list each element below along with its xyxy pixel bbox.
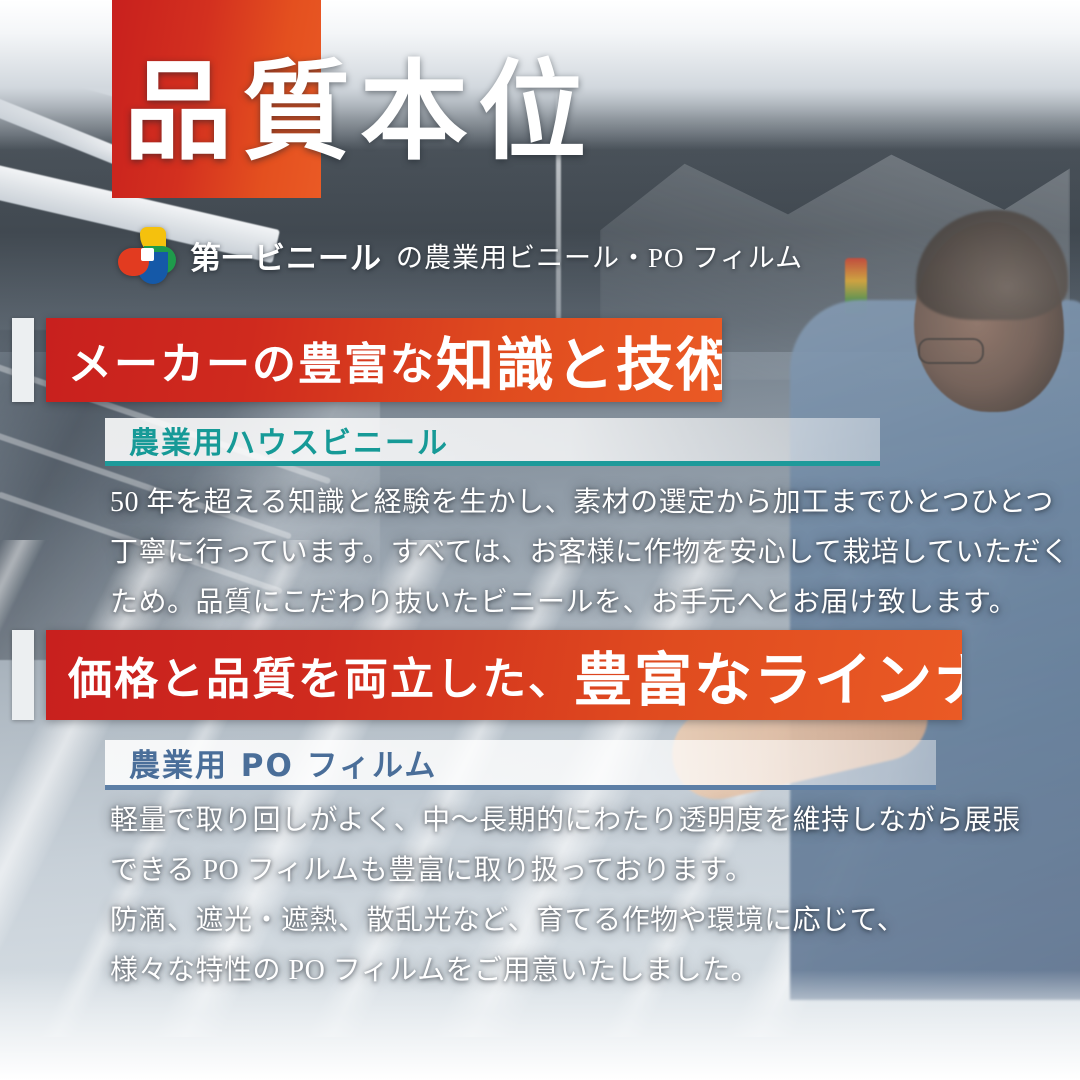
pinwheel-logo-icon (118, 226, 176, 284)
section-1-tick (12, 318, 34, 402)
section-1-body: 50 年を超える知識と経験を生かし、素材の選定から加工までひとつひとつ 丁寧に行… (110, 478, 980, 628)
section-2-body-line: できる PO フィルムも豊富に取り扱っております。 (110, 846, 970, 896)
logo-center (141, 248, 154, 261)
brand-row: 第一ビニール の農業用ビニール・PO フィルム (118, 226, 803, 284)
promo-banner: 品質本位 第一ビニール の農業用ビニール・PO フィルム メーカーの豊富な 知識… (0, 0, 1080, 1080)
section-2-body-line: 軽量で取り回しがよく、中〜長期的にわたり透明度を維持しながら展張 (110, 796, 970, 846)
section-2-body-line: 様々な特性の PO フィルムをご用意いたしました。 (110, 946, 970, 996)
section-1-banner-small: メーカーの豊富な (68, 328, 436, 392)
brand-tagline: の農業用ビニール・PO フィルム (396, 236, 803, 275)
section-1-subheading: 農業用ハウスビニール (129, 418, 449, 462)
section-1-banner: メーカーの豊富な 知識と技術 (46, 318, 722, 402)
section-2-tick (12, 630, 34, 720)
brand-name: 第一ビニール (190, 233, 382, 278)
section-2-body: 軽量で取り回しがよく、中〜長期的にわたり透明度を維持しながら展張 できる PO … (110, 796, 970, 996)
section-1-body-line: 丁寧に行っています。すべては、お客様に作物を安心して栽培していただく (110, 528, 980, 578)
section-1-banner-big: 知識と技術 (436, 318, 722, 402)
section-1-body-line: 50 年を超える知識と経験を生かし、素材の選定から加工までひとつひとつ (110, 478, 980, 528)
section-2-banner-small: 価格と品質を両立した、 (68, 643, 574, 707)
section-2-subheading: 農業用 PO フィルム (129, 740, 437, 785)
section-2-banner: 価格と品質を両立した、 豊富なラインナップ (46, 630, 962, 720)
section-1-subheading-band: 農業用ハウスビニール (105, 418, 880, 466)
page-title: 品質本位 (124, 58, 824, 166)
section-2-subheading-band: 農業用 PO フィルム (105, 740, 936, 790)
section-1-body-line: ため。品質にこだわり抜いたビニールを、お手元へとお届け致します。 (110, 578, 980, 628)
section-2-banner-big: 豊富なラインナップ (574, 633, 962, 717)
section-2-body-line: 防滴、遮光・遮熱、散乱光など、育てる作物や環境に応じて、 (110, 896, 970, 946)
